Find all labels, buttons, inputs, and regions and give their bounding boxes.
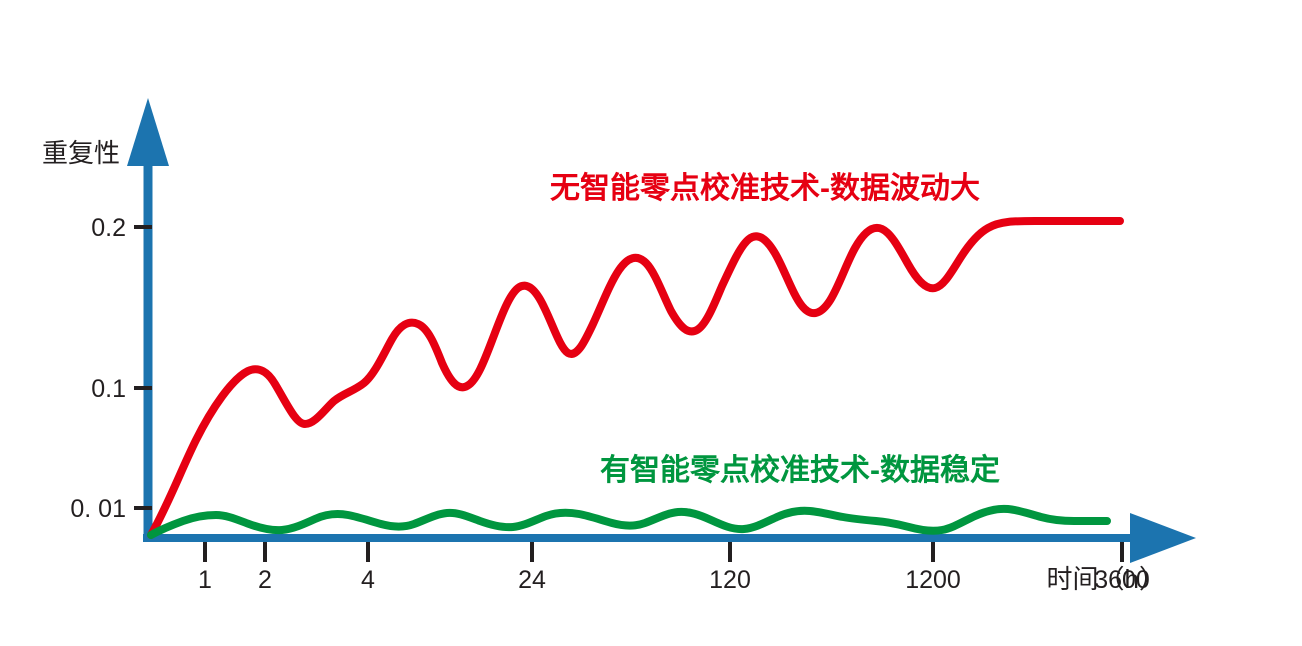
y-tick-label-1: 0.1 [91,375,126,403]
x-tick-label-3: 24 [518,566,546,594]
x-tick-label-2: 4 [361,566,375,594]
x-axis-arrow-icon [1130,513,1196,563]
annotation-with-calibration: 有智能零点校准技术-数据稳定 [600,453,1000,487]
series-line-no-calibration [151,221,1120,535]
y-tick-label-2: 0. 01 [70,495,126,523]
x-axis-title: 时间（h） [1047,564,1165,594]
series-line-with-calibration [151,509,1107,535]
x-tick-label-5: 1200 [905,566,961,594]
x-tick-label-0: 1 [198,566,212,594]
x-tick-label-4: 120 [709,566,751,594]
y-axis-title: 重复性 [42,138,120,168]
chart-container: 0.2 0.1 0. 01 1 2 4 24 120 1200 3600 重复性… [0,0,1302,646]
x-axis-ticks [205,542,1122,562]
x-tick-label-1: 2 [258,566,272,594]
y-tick-label-0: 0.2 [91,214,126,242]
annotation-no-calibration: 无智能零点校准技术-数据波动大 [550,171,980,205]
y-axis-arrow-icon [127,98,169,166]
chart-canvas: 0.2 0.1 0. 01 1 2 4 24 120 1200 3600 重复性… [0,0,1302,646]
